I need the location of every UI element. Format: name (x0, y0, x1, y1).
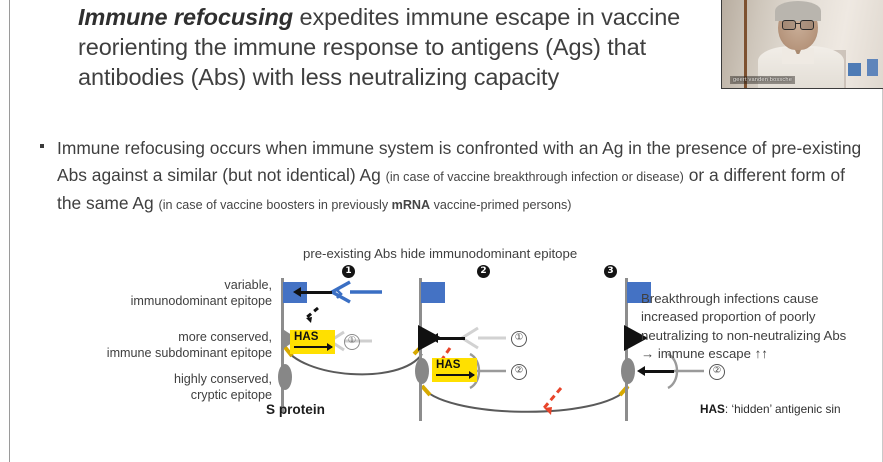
breakthrough-explanation: Breakthrough infections cause increased … (641, 290, 883, 363)
bullet-paren-2: (in case of vaccine boosters in previous… (159, 198, 572, 212)
slide-title: Immune refocusing expedites immune escap… (78, 2, 778, 92)
webcam-door-frame (744, 0, 747, 88)
webcam-video-tile[interactable]: geert vanden bossche (721, 0, 883, 89)
has-chip-2: HAS (432, 358, 477, 382)
binding-arrow-2 (437, 337, 465, 340)
title-line-1-rest: expedites immune escape in vaccine (293, 4, 680, 30)
participant-name-label: geert vanden bossche (730, 76, 795, 84)
breakthrough-line-1: Breakthrough infections cause (641, 290, 883, 308)
title-emphasis: Immune refocusing (78, 4, 293, 30)
step-circle-1: 1 (342, 265, 355, 278)
label-subdominant-epitope: more conserved, immune subdominant epito… (60, 330, 272, 361)
binding-arrow-1 (300, 291, 332, 294)
bullet-paren-1: (in case of vaccine breakthrough infecti… (386, 170, 684, 184)
bullet-block: Immune refocusing occurs when immune sys… (38, 135, 864, 219)
cryptic-epitope-2 (415, 358, 429, 384)
title-line-2: reorienting the immune response to antig… (78, 32, 778, 62)
webcam-person-hair (775, 1, 821, 21)
has-legend-text: : ‘hidden’ antigenic sin (725, 402, 841, 416)
label-cryptic-epitope: highly conserved, cryptic epitope (60, 372, 272, 403)
breakthrough-line-4: → immune escape ↑↑ (641, 345, 883, 363)
antibody-class-1-panel-2: ① (511, 331, 527, 347)
has-chip-1: HAS (290, 330, 335, 354)
presentation-slide: Immune refocusing expedites immune escap… (0, 0, 883, 462)
title-line-3: antibodies (Abs) with less neutralizing … (78, 62, 778, 92)
has-legend: HAS: ‘hidden’ antigenic sin (700, 402, 841, 416)
cryptic-epitope-1 (278, 364, 292, 390)
bullet-marker-icon (40, 144, 44, 148)
breakthrough-line-3: neutralizing to non-neutralizing Abs (641, 327, 883, 345)
label-immunodominant-epitope: variable, immunodominant epitope (60, 278, 272, 309)
diagram-header-label: pre-existing Abs hide immunodominant epi… (303, 246, 577, 261)
bullet-paren-2a: (in case of vaccine boosters in previous… (159, 198, 392, 212)
step-circle-2: 2 (477, 265, 490, 278)
immunodominant-epitope-box-2 (421, 282, 445, 303)
breakthrough-line-2: increased proportion of poorly (641, 308, 883, 326)
title-line-1: Immune refocusing expedites immune escap… (78, 2, 778, 32)
antibody-class-1-panel-1: ① (344, 334, 360, 350)
webcam-desk-object (848, 54, 878, 76)
glasses-icon (782, 20, 814, 28)
s-protein-label: S protein (266, 402, 325, 417)
bullet-paren-2c: vaccine-primed persons) (430, 198, 571, 212)
antibody-class-2-panel-2: ② (511, 364, 527, 380)
cryptic-epitope-3 (621, 358, 635, 384)
has-arrow-icon-2 (436, 374, 474, 376)
immune-refocusing-diagram: pre-existing Abs hide immunodominant epi… (0, 236, 883, 436)
antibody-class-2-panel-3: ② (709, 364, 725, 380)
binding-arrow-3 (644, 370, 674, 373)
has-arrow-icon-1 (294, 346, 332, 348)
has-legend-abbr: HAS (700, 402, 725, 416)
step-circle-3: 3 (604, 265, 617, 278)
bullet-paren-2-mrna: mRNA (392, 198, 430, 212)
bullet-text: Immune refocusing occurs when immune sys… (57, 135, 864, 219)
